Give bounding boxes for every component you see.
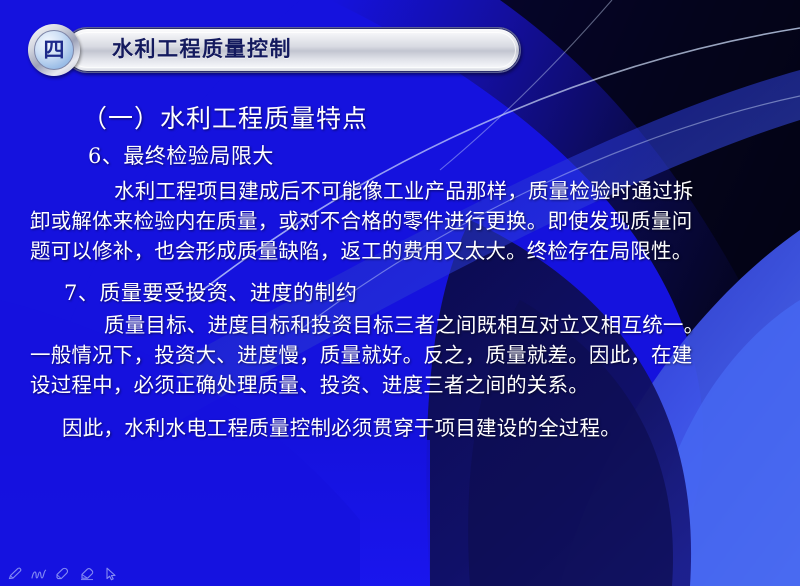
slide-header-banner: 四 水利工程质量控制 xyxy=(28,24,521,76)
presentation-slide: 四 水利工程质量控制 （一）水利工程质量特点 6、最终检验局限大 水利工程项目建… xyxy=(0,0,800,586)
background-artwork xyxy=(0,0,800,586)
slide-title: 水利工程质量控制 xyxy=(112,36,292,62)
section-number-badge-inner: 四 xyxy=(34,30,74,70)
pen-icon[interactable] xyxy=(6,566,24,582)
section-number-label: 四 xyxy=(44,40,65,61)
section-number-badge: 四 xyxy=(28,24,80,76)
scribble-icon[interactable] xyxy=(30,566,48,582)
annotation-toolbar[interactable] xyxy=(6,566,120,582)
pointer-icon[interactable] xyxy=(102,566,120,582)
eraser-icon[interactable] xyxy=(78,566,96,582)
highlighter-icon[interactable] xyxy=(54,566,72,582)
